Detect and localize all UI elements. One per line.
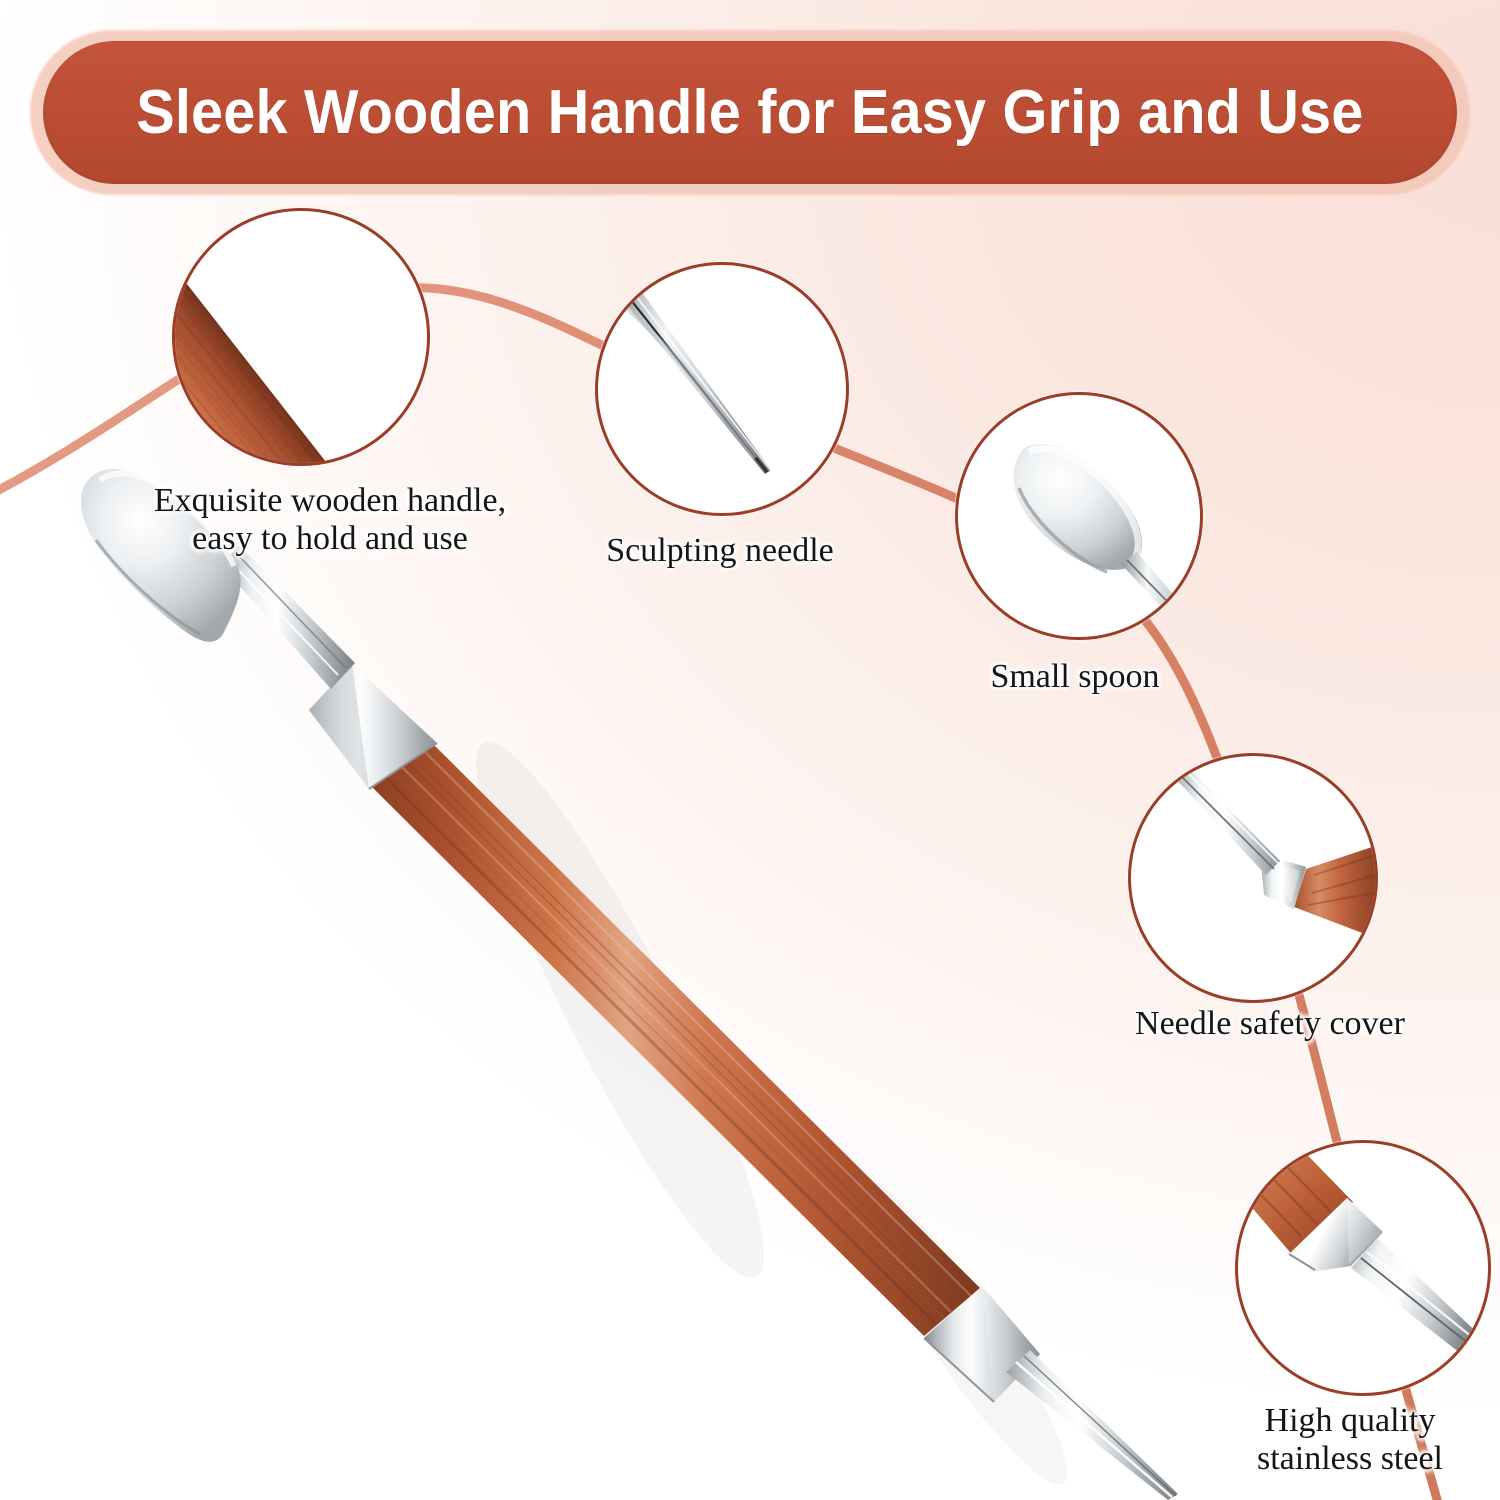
- callout-circle-sculpting-needle: [595, 262, 849, 516]
- callout-circle-wooden-handle: [172, 208, 430, 466]
- callout-label-small-spoon: Small spoon: [930, 658, 1220, 696]
- wood-handle-icon: [172, 208, 430, 466]
- spoon-blade-icon: [955, 392, 1203, 640]
- callout-label-stainless-steel: High quality stainless steel: [1195, 1402, 1500, 1478]
- ferrule-icon: [1235, 1140, 1491, 1396]
- callout-label-needle-safety-cover: Needle safety cover: [1090, 1005, 1450, 1043]
- callout-label-sculpting-needle: Sculpting needle: [555, 532, 885, 570]
- needle-tip-icon: [595, 262, 849, 516]
- infographic-canvas: Sleek Wooden Handle for Easy Grip and Us…: [0, 0, 1500, 1500]
- callout-label-wooden-handle: Exquisite wooden handle, easy to hold an…: [120, 482, 540, 558]
- callout-circle-stainless-steel: [1235, 1140, 1491, 1396]
- callout-circle-small-spoon: [955, 392, 1203, 640]
- callout-circle-needle-safety-cover: [1128, 753, 1378, 1003]
- safety-cover-icon: [1128, 753, 1378, 1003]
